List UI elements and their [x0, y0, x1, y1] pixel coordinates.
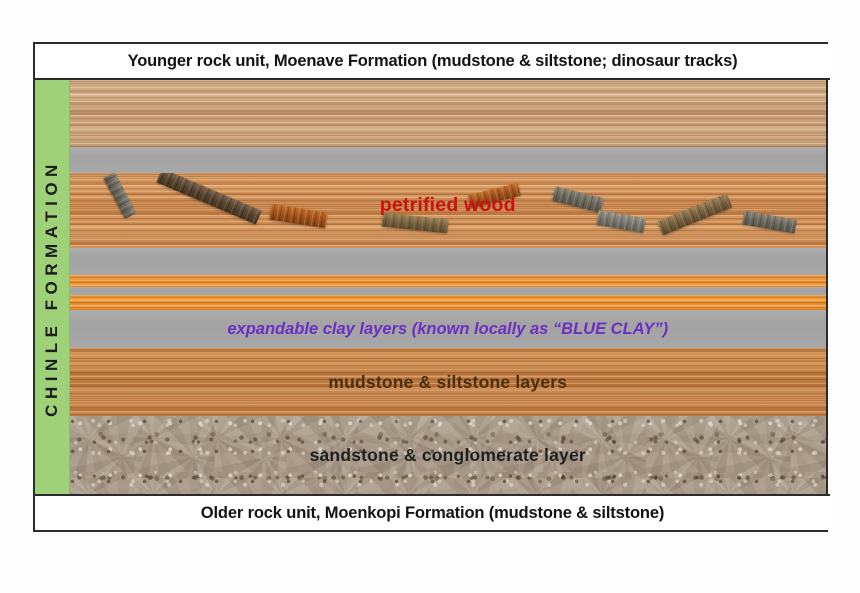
- label-sandstone-conglomerate: sandstone & conglomerate layer: [70, 445, 826, 466]
- layer-clay-band-3: [70, 287, 826, 295]
- top-caption-bar: Younger rock unit, Moenave Formation (mu…: [35, 44, 830, 80]
- screenshot-stage: Younger rock unit, Moenave Formation (mu…: [0, 0, 860, 593]
- petrified-wood-fragment: [657, 193, 732, 235]
- formation-tab-label: CHINLE FORMATION: [42, 159, 62, 417]
- petrified-wood-fragment: [103, 173, 136, 219]
- layer-clay-band-1: [70, 147, 826, 173]
- layer-orange-band-2: [70, 295, 826, 310]
- layer-orange-band-1: [70, 275, 826, 287]
- label-mudstone-siltstone: mudstone & siltstone layers: [70, 372, 826, 393]
- top-caption-text: Younger rock unit, Moenave Formation (mu…: [128, 52, 738, 71]
- bottom-caption-bar: Older rock unit, Moenkopi Formation (mud…: [35, 494, 830, 530]
- layer-upper-siltstone: [70, 80, 826, 147]
- layer-clay-band-4: expandable clay layers (known locally as…: [70, 310, 826, 348]
- bottom-caption-text: Older rock unit, Moenkopi Formation (mud…: [201, 504, 664, 523]
- stratigraphic-diagram: Younger rock unit, Moenave Formation (mu…: [33, 42, 828, 532]
- petrified-wood-fragment: [381, 213, 448, 234]
- petrified-wood-fragment: [552, 186, 604, 213]
- petrified-wood-fragment: [156, 173, 261, 225]
- petrified-wood-fragment: [596, 210, 646, 233]
- strata-stack: petrified wood expandable clay layers (k…: [70, 80, 826, 495]
- column-body: CHINLE FORMATION: [35, 80, 826, 495]
- layer-sandstone-conglomerate: sandstone & conglomerate layer: [70, 416, 826, 495]
- layer-clay-band-2: [70, 248, 826, 275]
- petrified-wood-fragment: [269, 204, 328, 229]
- layer-mudstone-siltstone: mudstone & siltstone layers: [70, 348, 826, 416]
- label-expandable-clay: expandable clay layers (known locally as…: [70, 320, 826, 339]
- formation-tab: CHINLE FORMATION: [35, 80, 70, 495]
- layer-petrified-wood-bed: petrified wood: [70, 173, 826, 248]
- petrified-wood-fragment: [467, 183, 521, 208]
- petrified-wood-fragment: [742, 211, 797, 234]
